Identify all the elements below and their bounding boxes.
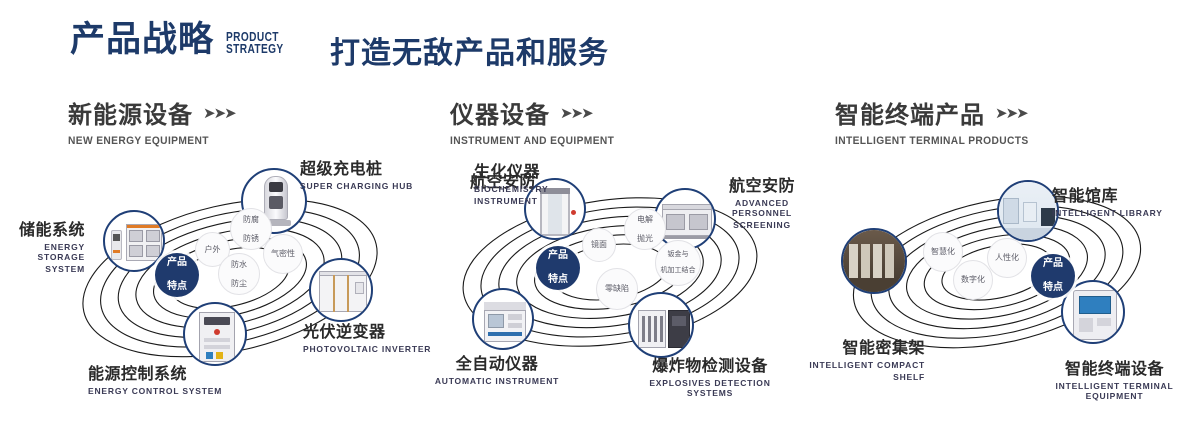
label-cn: 生化仪器 bbox=[474, 158, 548, 182]
label-explosives-detection-systems: 爆炸物检测设备 EXPLOSIVES DETECTION SYSTEMS bbox=[630, 352, 790, 398]
core-line2: 特点 bbox=[1043, 282, 1063, 294]
section-title-text: 仪器设备 bbox=[450, 95, 550, 130]
node-energy-storage-system[interactable] bbox=[103, 210, 165, 272]
node-photovoltaic-inverter[interactable] bbox=[309, 258, 373, 322]
label-photovoltaic-inverter: 光伏逆变器 PHOTOVOLTAIC INVERTER bbox=[303, 318, 431, 354]
page-title-en: PRODUCT STRATEGY bbox=[226, 31, 284, 55]
label-cn: 智能馆库 bbox=[1052, 182, 1163, 206]
label-en-line1: INTELLIGENT COMPACT bbox=[800, 360, 925, 370]
node-explosives-detection[interactable] bbox=[628, 292, 694, 358]
feature-line1: 户外 bbox=[205, 245, 221, 254]
label-en-line1: INTELLIGENT TERMINAL EQUIPMENT bbox=[1032, 381, 1197, 401]
chevron-right-icon: ➤➤➤ bbox=[995, 104, 1027, 122]
label-cn: 智能密集架 bbox=[800, 334, 925, 358]
feature-line2: 防锈 bbox=[243, 234, 259, 243]
label-en-line1: EXPLOSIVES DETECTION SYSTEMS bbox=[630, 378, 790, 398]
section-title-cn: 新能源设备 ➤➤➤ bbox=[68, 95, 235, 130]
section-title-cn: 智能终端产品 ➤➤➤ bbox=[835, 95, 1043, 130]
section-title-intelligent-terminal: 智能终端产品 ➤➤➤ INTELLIGENT TERMINAL PRODUCTS bbox=[835, 95, 1043, 147]
label-cn: 能源控制系统 bbox=[88, 360, 222, 384]
feature-line2: 防尘 bbox=[231, 279, 247, 288]
label-cn: 航空安防 bbox=[712, 172, 812, 196]
feature-bubble-zero-defect: 零缺陷 bbox=[596, 268, 638, 310]
section-title-text: 智能终端产品 bbox=[835, 95, 985, 130]
label-en-line1: ENERGY CONTROL SYSTEM bbox=[88, 386, 222, 396]
page-title-cn: 产品战略 bbox=[70, 22, 214, 57]
label-en-line1: SUPER CHARGING HUB bbox=[300, 181, 413, 191]
feature-bubble-waterproof: 防水 防尘 bbox=[218, 253, 260, 295]
core-badge-product-features: 产品 特点 bbox=[536, 246, 580, 290]
label-energy-storage-system: 储能系统 ENERGY STORAGE SYSTEM bbox=[0, 216, 85, 274]
label-biochemistry-instrument: 生化仪器 BIOCHEMISTRY INSTRUMENT bbox=[474, 158, 548, 206]
feature-line1: 电解 bbox=[637, 215, 653, 224]
section-title-cn: 仪器设备 ➤➤➤ bbox=[450, 95, 627, 130]
node-intelligent-library[interactable] bbox=[997, 180, 1059, 242]
section-title-en: NEW ENERGY EQUIPMENT bbox=[68, 135, 223, 147]
label-super-charging-hub: 超级充电桩 SUPER CHARGING HUB bbox=[300, 155, 413, 191]
core-badge-product-features: 产品 特点 bbox=[1031, 254, 1075, 298]
feature-line1: 镜面 bbox=[591, 240, 607, 249]
core-line1: 产品 bbox=[1043, 258, 1063, 270]
section-title-instrument: 仪器设备 ➤➤➤ INSTRUMENT AND EQUIPMENT bbox=[450, 95, 627, 147]
label-intelligent-library: 智能馆库 INTELLIGENT LIBRARY bbox=[1052, 182, 1163, 218]
section-title-new-energy: 新能源设备 ➤➤➤ NEW ENERGY EQUIPMENT bbox=[68, 95, 235, 147]
label-en-line1: ADVANCED PERSONNEL bbox=[712, 198, 812, 218]
label-intelligent-terminal-equipment: 智能终端设备 INTELLIGENT TERMINAL EQUIPMENT bbox=[1032, 355, 1197, 401]
feature-bubble-airtightness: 气密性 bbox=[263, 234, 303, 274]
page-header: 产品战略 PRODUCT STRATEGY bbox=[70, 22, 300, 57]
library-interior-icon bbox=[999, 182, 1057, 240]
label-cn: 全自动仪器 bbox=[432, 350, 562, 374]
label-en-line2: SYSTEM bbox=[0, 264, 85, 274]
feature-bubble-sheetmetal-machining: 钣金与 机加工结合 bbox=[655, 240, 701, 286]
label-cn: 超级充电桩 bbox=[300, 155, 413, 179]
compact-shelf-icon bbox=[843, 230, 905, 292]
feature-line1: 防腐 bbox=[243, 215, 259, 224]
label-en-line2: INSTRUMENT bbox=[474, 196, 548, 206]
label-cn: 储能系统 bbox=[0, 216, 85, 240]
core-line2: 特点 bbox=[167, 281, 187, 293]
feature-line1: 智慧化 bbox=[931, 247, 955, 256]
core-line1: 产品 bbox=[167, 257, 187, 269]
label-en-line1: AUTOMATIC INSTRUMENT bbox=[432, 376, 562, 386]
label-en-line1: BIOCHEMISTRY bbox=[474, 184, 548, 194]
label-en-line2: SCREENING bbox=[712, 220, 812, 230]
core-badge-product-features: 产品 特点 bbox=[155, 253, 199, 297]
chevron-right-icon: ➤➤➤ bbox=[560, 104, 592, 122]
label-en-line2: SHELF bbox=[800, 372, 925, 382]
feature-line1: 零缺陷 bbox=[605, 284, 629, 293]
detection-rack-icon bbox=[630, 294, 692, 356]
product-strategy-infographic: 产品战略 PRODUCT STRATEGY 打造无敌产品和服务 新能源设备 ➤➤… bbox=[0, 0, 1200, 422]
chevron-right-icon: ➤➤➤ bbox=[203, 104, 235, 122]
self-service-kiosk-icon bbox=[1063, 282, 1123, 342]
feature-line1: 防水 bbox=[231, 260, 247, 269]
feature-line1: 钣金与 bbox=[661, 251, 696, 259]
label-intelligent-compact-shelf: 智能密集架 INTELLIGENT COMPACT SHELF bbox=[800, 334, 925, 382]
section-title-text: 新能源设备 bbox=[68, 95, 193, 130]
page-title-en-line2: STRATEGY bbox=[226, 43, 284, 55]
section-title-en: INSTRUMENT AND EQUIPMENT bbox=[450, 135, 614, 147]
label-cn: 光伏逆变器 bbox=[303, 318, 431, 342]
feature-line1: 人性化 bbox=[995, 253, 1019, 262]
feature-bubble-electro-polishing: 电解 抛光 bbox=[624, 208, 666, 250]
page-subtitle: 打造无敌产品和服务 bbox=[330, 28, 609, 72]
feature-bubble-digital: 数字化 bbox=[953, 260, 993, 300]
inverter-cabinet-icon bbox=[311, 260, 371, 320]
energy-storage-cabinet-icon bbox=[105, 212, 163, 270]
label-automatic-instrument: 全自动仪器 AUTOMATIC INSTRUMENT bbox=[432, 350, 562, 386]
feature-line2: 抛光 bbox=[637, 234, 653, 243]
label-en-line1: INTELLIGENT LIBRARY bbox=[1052, 208, 1163, 218]
label-advanced-personnel-screening: 航空安防 ADVANCED PERSONNEL SCREENING bbox=[712, 172, 812, 230]
label-cn: 智能终端设备 bbox=[1032, 355, 1197, 379]
label-en-line1: ENERGY STORAGE bbox=[0, 242, 85, 262]
label-en-line1: PHOTOVOLTAIC INVERTER bbox=[303, 344, 431, 354]
label-cn: 爆炸物检测设备 bbox=[630, 352, 790, 376]
feature-line2: 机加工结合 bbox=[661, 267, 696, 275]
xray-scanner-icon bbox=[656, 190, 714, 248]
section-title-en: INTELLIGENT TERMINAL PRODUCTS bbox=[835, 135, 1029, 147]
node-intelligent-compact-shelf[interactable] bbox=[841, 228, 907, 294]
feature-bubble-humanized: 人性化 bbox=[987, 238, 1027, 278]
control-cabinet-icon bbox=[185, 304, 245, 364]
node-intelligent-terminal-equipment[interactable] bbox=[1061, 280, 1125, 344]
core-line2: 特点 bbox=[548, 274, 568, 286]
node-energy-control-system[interactable] bbox=[183, 302, 247, 366]
node-automatic-instrument[interactable] bbox=[472, 288, 534, 350]
feature-bubble-mirror-finish: 镜面 bbox=[582, 228, 616, 262]
feature-line1: 数字化 bbox=[961, 275, 985, 284]
automatic-analyzer-icon bbox=[474, 290, 532, 348]
feature-line1: 气密性 bbox=[271, 249, 295, 258]
label-energy-control-system: 能源控制系统 ENERGY CONTROL SYSTEM bbox=[88, 360, 222, 396]
core-line1: 产品 bbox=[548, 250, 568, 262]
